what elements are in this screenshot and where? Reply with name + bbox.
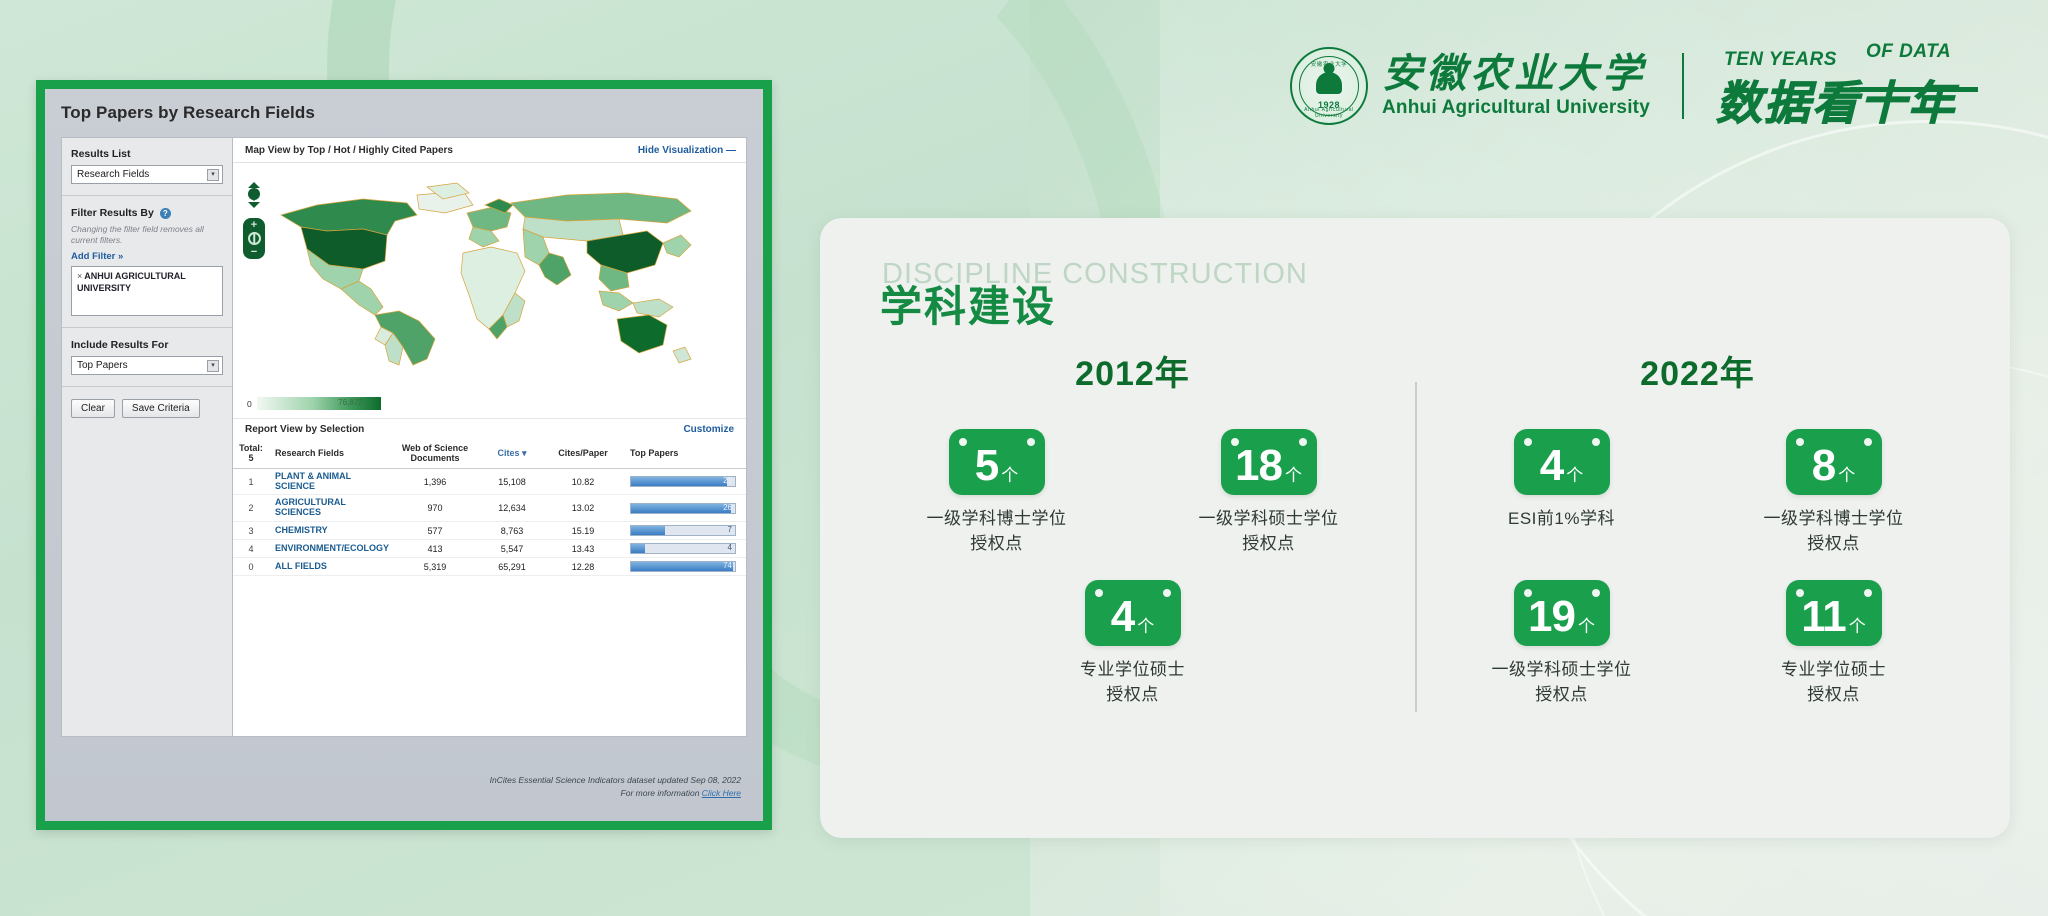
stat-badge-item: 4个ESI前1%学科 <box>1472 429 1652 556</box>
map-legend: 0 76,872 <box>233 391 746 418</box>
row-wos-docs: 1,396 <box>392 468 478 495</box>
brand-names: 安徽农业大学 Anhui Agricultural University <box>1382 53 1650 119</box>
campaign-english-secondary: OF DATA <box>1866 41 1951 63</box>
badge-row: 4个专业学位硕士授权点 <box>1043 580 1223 707</box>
pan-up-icon[interactable] <box>248 176 260 188</box>
stat-caption: 一级学科硕士学位授权点 <box>1492 658 1632 707</box>
clear-button[interactable]: Clear <box>71 399 115 418</box>
bar-track: 74 <box>630 561 736 572</box>
stat-unit: 个 <box>1566 461 1583 486</box>
badge-hole-left-icon <box>1095 589 1103 597</box>
row-wos-docs: 970 <box>392 495 478 522</box>
table-row[interactable]: 4ENVIRONMENT/ECOLOGY4135,54713.434 <box>233 540 746 558</box>
row-field-link[interactable]: ALL FIELDS <box>269 558 392 576</box>
badge-row: 19个一级学科硕士学位授权点11个专业学位硕士授权点 <box>1472 580 1924 707</box>
results-list-label: Results List <box>71 148 223 160</box>
bar-track: 21 <box>630 476 736 487</box>
bar-track: 4 <box>630 543 736 554</box>
pan-down-icon[interactable] <box>248 202 260 214</box>
row-cites: 65,291 <box>478 558 546 576</box>
bar-fill <box>631 504 731 513</box>
section-heading-chinese: 学科建设 <box>880 273 1056 334</box>
badge-hole-right-icon <box>1163 589 1171 597</box>
row-wos-docs: 5,319 <box>392 558 478 576</box>
remove-filter-icon[interactable]: × <box>77 271 82 281</box>
report-header: Report View by Selection Customize <box>233 418 746 439</box>
badge-hole-left-icon <box>1524 589 1532 597</box>
bar-fill <box>631 562 733 571</box>
filter-chip[interactable]: ×ANHUI AGRICULTURAL UNIVERSITY <box>77 271 217 294</box>
badge-hole-right-icon <box>1864 438 1872 446</box>
filter-chip-label: ANHUI AGRICULTURAL UNIVERSITY <box>77 271 186 292</box>
row-rank: 3 <box>233 522 269 540</box>
bar-fill <box>631 544 645 553</box>
filter-sidebar: Results List Research Fields ▾ Filter Re… <box>61 137 233 737</box>
visualization-pane: Map View by Top / Hot / Highly Cited Pap… <box>233 137 747 737</box>
chevron-down-icon: ▾ <box>207 360 219 372</box>
hide-visualization-link[interactable]: Hide Visualization — <box>638 145 736 156</box>
badge-hole-right-icon <box>1027 438 1035 446</box>
stat-value: 18 <box>1235 444 1282 488</box>
badge-hole-right-icon <box>1592 438 1600 446</box>
section-heading: DISCIPLINE CONSTRUCTION 学科建设 <box>820 218 2010 346</box>
stat-unit: 个 <box>1285 461 1302 486</box>
customize-link[interactable]: Customize <box>683 424 734 435</box>
app-body: Results List Research Fields ▾ Filter Re… <box>61 137 747 737</box>
divider <box>62 327 232 328</box>
table-row[interactable]: 2AGRICULTURAL SCIENCES97012,63413.0226 <box>233 495 746 522</box>
brand-header: 安徽农业大学 1928 Anhui Agricultural Universit… <box>1290 38 2020 134</box>
table-header-row: Total: 5 Research Fields Web of Science … <box>233 439 746 468</box>
bar-value: 26 <box>723 503 732 512</box>
zoom-in-icon[interactable]: + <box>251 220 257 230</box>
save-criteria-button[interactable]: Save Criteria <box>122 399 200 418</box>
filter-note: Changing the filter field removes all cu… <box>71 224 223 245</box>
row-cites-paper: 10.82 <box>546 468 620 495</box>
divider <box>62 195 232 196</box>
pan-right-icon[interactable] <box>254 189 266 201</box>
university-name-cn: 安徽农业大学 <box>1382 53 1650 95</box>
legend-min-value: 0 <box>247 399 252 409</box>
stat-caption: 一级学科博士学位授权点 <box>1764 507 1904 556</box>
bar-value: 21 <box>723 476 732 485</box>
results-list-value: Research Fields <box>77 169 149 180</box>
stat-badge-card: 4个 <box>1514 429 1610 495</box>
badge-hole-left-icon <box>1796 438 1804 446</box>
stat-badge-card: 5个 <box>949 429 1045 495</box>
row-field-link[interactable]: ENVIRONMENT/ECOLOGY <box>269 540 392 558</box>
seal-arc-english: Anhui Agricultural University <box>1292 107 1366 119</box>
badge-hole-right-icon <box>1592 589 1600 597</box>
row-top-papers-bar: 26 <box>620 495 746 522</box>
stat-caption: 一级学科硕士学位授权点 <box>1199 507 1339 556</box>
results-list-select[interactable]: Research Fields ▾ <box>71 165 223 184</box>
stat-value: 4 <box>1111 595 1134 639</box>
stat-value: 11 <box>1801 595 1846 639</box>
row-cites-paper: 13.02 <box>546 495 620 522</box>
badge-hole-left-icon <box>1231 438 1239 446</box>
chevron-down-icon: ▾ <box>207 169 219 181</box>
click-here-link[interactable]: Click Here <box>702 788 741 798</box>
footer-dataset-note: InCites Essential Science Indicators dat… <box>45 774 741 786</box>
badge-row: 4个ESI前1%学科8个一级学科博士学位授权点 <box>1472 429 1924 556</box>
stat-caption: 一级学科博士学位授权点 <box>927 507 1067 556</box>
world-map-area[interactable]: + − <box>233 163 746 391</box>
badge-hole-left-icon <box>1524 438 1532 446</box>
row-wos-docs: 577 <box>392 522 478 540</box>
row-top-papers-bar: 74 <box>620 558 746 576</box>
column-top-papers[interactable]: Top Papers <box>620 439 746 468</box>
include-results-select[interactable]: Top Papers ▾ <box>71 356 223 375</box>
row-cites-paper: 13.43 <box>546 540 620 558</box>
report-title: Report View by Selection <box>245 424 364 435</box>
table-body: 1PLANT & ANIMAL SCIENCE1,39615,10810.822… <box>233 468 746 576</box>
row-rank: 0 <box>233 558 269 576</box>
active-filters-box[interactable]: ×ANHUI AGRICULTURAL UNIVERSITY <box>71 266 223 316</box>
legend-gradient-bar: 76,872 <box>257 397 381 410</box>
stat-badge-item: 4个专业学位硕士授权点 <box>1043 580 1223 707</box>
filter-actions: Clear Save Criteria <box>71 399 223 418</box>
add-filter-link[interactable]: Add Filter » <box>71 251 223 262</box>
globe-reset-icon[interactable] <box>248 232 261 245</box>
stat-caption: 专业学位硕士授权点 <box>1080 658 1185 707</box>
row-rank: 4 <box>233 540 269 558</box>
divider <box>62 386 232 387</box>
year-column-1: 2012年5个一级学科博士学位授权点18个一级学科硕士学位授权点4个专业学位硕士… <box>850 346 1415 816</box>
row-field-link[interactable]: PLANT & ANIMAL SCIENCE <box>269 468 392 495</box>
university-name-en: Anhui Agricultural University <box>1382 97 1650 119</box>
table-row[interactable]: 1PLANT & ANIMAL SCIENCE1,39615,10810.822… <box>233 468 746 495</box>
stat-unit: 个 <box>1001 461 1018 486</box>
map-header-title: Map View by Top / Hot / Highly Cited Pap… <box>245 145 453 156</box>
column-cites-per-paper[interactable]: Cites/Paper <box>546 439 620 468</box>
column-divider <box>1415 382 1417 712</box>
badge-hole-right-icon <box>1299 438 1307 446</box>
row-rank: 1 <box>233 468 269 495</box>
filter-results-text: Filter Results By <box>71 207 154 219</box>
brand-divider <box>1682 53 1684 119</box>
discipline-construction-card: DISCIPLINE CONSTRUCTION 学科建设 2012年5个一级学科… <box>820 218 2010 838</box>
row-cites: 5,547 <box>478 540 546 558</box>
year-title: 2012年 <box>1075 346 1190 395</box>
year-column-2: 2022年4个ESI前1%学科8个一级学科博士学位授权点19个一级学科硕士学位授… <box>1415 346 1980 816</box>
row-rank: 2 <box>233 495 269 522</box>
stat-badge-item: 18个一级学科硕士学位授权点 <box>1179 429 1359 556</box>
stat-value: 8 <box>1812 444 1835 488</box>
total-label: Total: <box>236 443 266 453</box>
campaign-logo: TEN YEARS OF DATA 数据看十年 <box>1716 43 1976 129</box>
year-title: 2022年 <box>1640 346 1755 395</box>
row-wos-docs: 413 <box>392 540 478 558</box>
sort-descending-icon: ▾ <box>522 448 527 458</box>
row-cites: 8,763 <box>478 522 546 540</box>
row-field-link[interactable]: CHEMISTRY <box>269 522 392 540</box>
bar-value: 4 <box>728 543 732 552</box>
bar-track: 26 <box>630 503 736 514</box>
column-cites-label: Cites <box>497 448 519 458</box>
stat-value: 19 <box>1528 595 1575 639</box>
incites-app-window: Top Papers by Research Fields Results Li… <box>45 89 763 821</box>
row-cites-paper: 15.19 <box>546 522 620 540</box>
total-value: 5 <box>236 453 266 463</box>
stat-badge-item: 19个一级学科硕士学位授权点 <box>1472 580 1652 707</box>
include-results-label: Include Results For <box>71 339 223 351</box>
include-results-value: Top Papers <box>77 360 128 371</box>
row-top-papers-bar: 4 <box>620 540 746 558</box>
stat-unit: 个 <box>1849 612 1866 637</box>
stat-badge-card: 19个 <box>1514 580 1610 646</box>
row-cites: 15,108 <box>478 468 546 495</box>
research-fields-table: Total: 5 Research Fields Web of Science … <box>233 439 746 576</box>
zoom-controls[interactable]: + − <box>243 218 265 259</box>
footer-more-info-text: For more information <box>621 788 700 798</box>
campaign-underline <box>1850 87 1978 92</box>
row-top-papers-bar: 21 <box>620 468 746 495</box>
table-row[interactable]: 3CHEMISTRY5778,76315.197 <box>233 522 746 540</box>
column-wos-documents[interactable]: Web of Science Documents <box>392 439 478 468</box>
stat-badge-item: 8个一级学科博士学位授权点 <box>1744 429 1924 556</box>
stat-badge-card: 4个 <box>1085 580 1181 646</box>
column-cites[interactable]: Cites ▾ <box>478 439 546 468</box>
bar-fill <box>631 477 727 486</box>
row-cites: 12,634 <box>478 495 546 522</box>
stat-badge-card: 8个 <box>1786 429 1882 495</box>
bar-value: 74 <box>723 561 732 570</box>
stat-unit: 个 <box>1838 461 1855 486</box>
stat-unit: 个 <box>1137 612 1154 637</box>
bar-fill <box>631 526 665 535</box>
bar-track: 7 <box>630 525 736 536</box>
stat-unit: 个 <box>1578 612 1595 637</box>
app-footer: InCites Essential Science Indicators dat… <box>45 774 763 799</box>
stat-caption: 专业学位硕士授权点 <box>1781 658 1886 707</box>
university-seal-logo: 安徽农业大学 1928 Anhui Agricultural Universit… <box>1290 47 1368 125</box>
screenshot-frame: Top Papers by Research Fields Results Li… <box>36 80 772 830</box>
zoom-out-icon[interactable]: − <box>251 247 257 257</box>
year-columns: 2012年5个一级学科博士学位授权点18个一级学科硕士学位授权点4个专业学位硕士… <box>820 346 2010 816</box>
map-header: Map View by Top / Hot / Highly Cited Pap… <box>233 138 746 163</box>
legend-max-value: 76,872 <box>338 398 362 407</box>
world-choropleth-map[interactable] <box>267 169 707 383</box>
stat-badge-card: 18个 <box>1221 429 1317 495</box>
footer-more-info: For more information Click Here <box>45 787 741 799</box>
app-title: Top Papers by Research Fields <box>61 103 747 123</box>
stat-badge-card: 11个 <box>1786 580 1882 646</box>
campaign-chinese: 数据看十年 <box>1716 67 1956 133</box>
column-research-fields[interactable]: Research Fields <box>269 439 392 468</box>
badge-row: 5个一级学科博士学位授权点18个一级学科硕士学位授权点 <box>907 429 1359 556</box>
stat-badge-item: 5个一级学科博士学位授权点 <box>907 429 1087 556</box>
row-cites-paper: 12.28 <box>546 558 620 576</box>
stat-caption: ESI前1%学科 <box>1508 507 1615 532</box>
row-field-link[interactable]: AGRICULTURAL SCIENCES <box>269 495 392 522</box>
badge-hole-left-icon <box>1796 589 1804 597</box>
filter-results-label: Filter Results By ? <box>71 207 223 219</box>
stat-badge-item: 11个专业学位硕士授权点 <box>1744 580 1924 707</box>
row-top-papers-bar: 7 <box>620 522 746 540</box>
bar-value: 7 <box>728 525 732 534</box>
map-pan-zoom-controls[interactable]: + − <box>243 175 265 259</box>
badge-hole-left-icon <box>959 438 967 446</box>
total-header: Total: 5 <box>233 439 269 468</box>
stat-value: 5 <box>975 444 998 488</box>
table-row[interactable]: 0ALL FIELDS5,31965,29112.2874 <box>233 558 746 576</box>
stat-value: 4 <box>1540 444 1563 488</box>
seal-figure-icon <box>1316 72 1342 94</box>
help-icon[interactable]: ? <box>160 208 171 219</box>
badge-hole-right-icon <box>1864 589 1872 597</box>
pan-control-icon[interactable] <box>243 175 265 215</box>
